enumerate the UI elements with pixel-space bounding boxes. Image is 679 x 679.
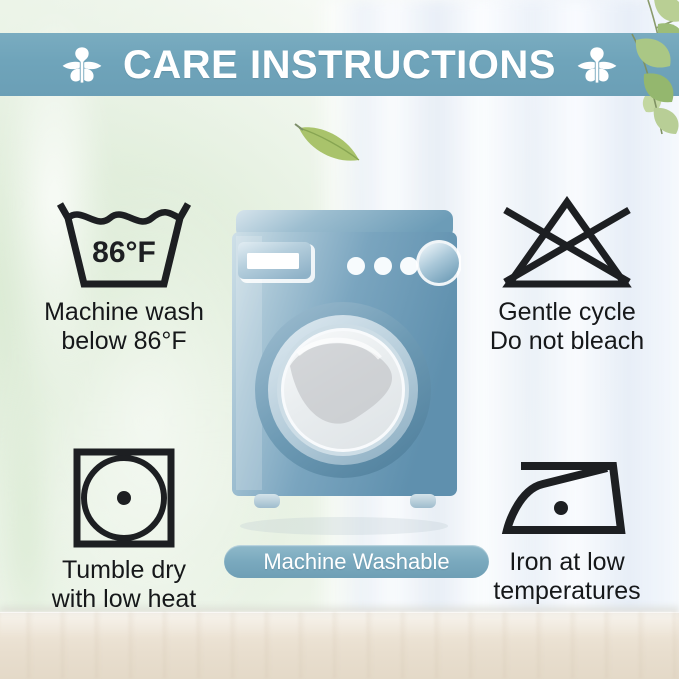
washer-feet bbox=[254, 494, 436, 508]
machine-washable-badge-label: Machine Washable bbox=[263, 551, 449, 573]
care-symbol-label: Gentle cycle Do not bleach bbox=[490, 298, 644, 356]
care-symbol-machine-wash: 86°F Machine wash below 86°F bbox=[12, 196, 236, 356]
care-symbol-label: Iron at low temperatures bbox=[493, 548, 640, 606]
washer-door[interactable] bbox=[255, 302, 431, 478]
washer-indicator-lights bbox=[347, 257, 418, 275]
washing-machine-illustration bbox=[228, 208, 461, 540]
wooden-table-surface bbox=[0, 612, 679, 679]
fleur-de-lis-icon bbox=[59, 43, 105, 87]
floating-leaf-icon bbox=[293, 118, 365, 168]
care-symbol-label: Machine wash below 86°F bbox=[44, 298, 204, 356]
fleur-de-lis-icon bbox=[574, 43, 620, 87]
care-symbol-iron-low: Iron at low temperatures bbox=[455, 446, 679, 606]
washer-dial-knob[interactable] bbox=[416, 240, 461, 286]
care-symbol-label: Tumble dry with low heat bbox=[52, 556, 197, 614]
detergent-drawer bbox=[238, 242, 315, 283]
tumble-dry-icon bbox=[69, 446, 179, 550]
machine-washable-badge: Machine Washable bbox=[224, 545, 489, 578]
washer-shadow bbox=[240, 517, 448, 535]
care-symbol-tumble-dry: Tumble dry with low heat bbox=[12, 446, 236, 614]
care-instructions-infographic: CARE INSTRUCTIONS bbox=[0, 0, 679, 679]
wash-temperature-value: 86°F bbox=[92, 236, 156, 269]
iron-icon bbox=[497, 446, 637, 542]
triangle-crossed-icon bbox=[492, 196, 642, 292]
care-symbol-do-not-bleach: Gentle cycle Do not bleach bbox=[455, 196, 679, 356]
header-banner: CARE INSTRUCTIONS bbox=[0, 33, 679, 96]
banner-title: CARE INSTRUCTIONS bbox=[123, 45, 556, 85]
wash-basin-icon: 86°F bbox=[49, 196, 199, 292]
wood-grain-texture bbox=[0, 612, 679, 679]
